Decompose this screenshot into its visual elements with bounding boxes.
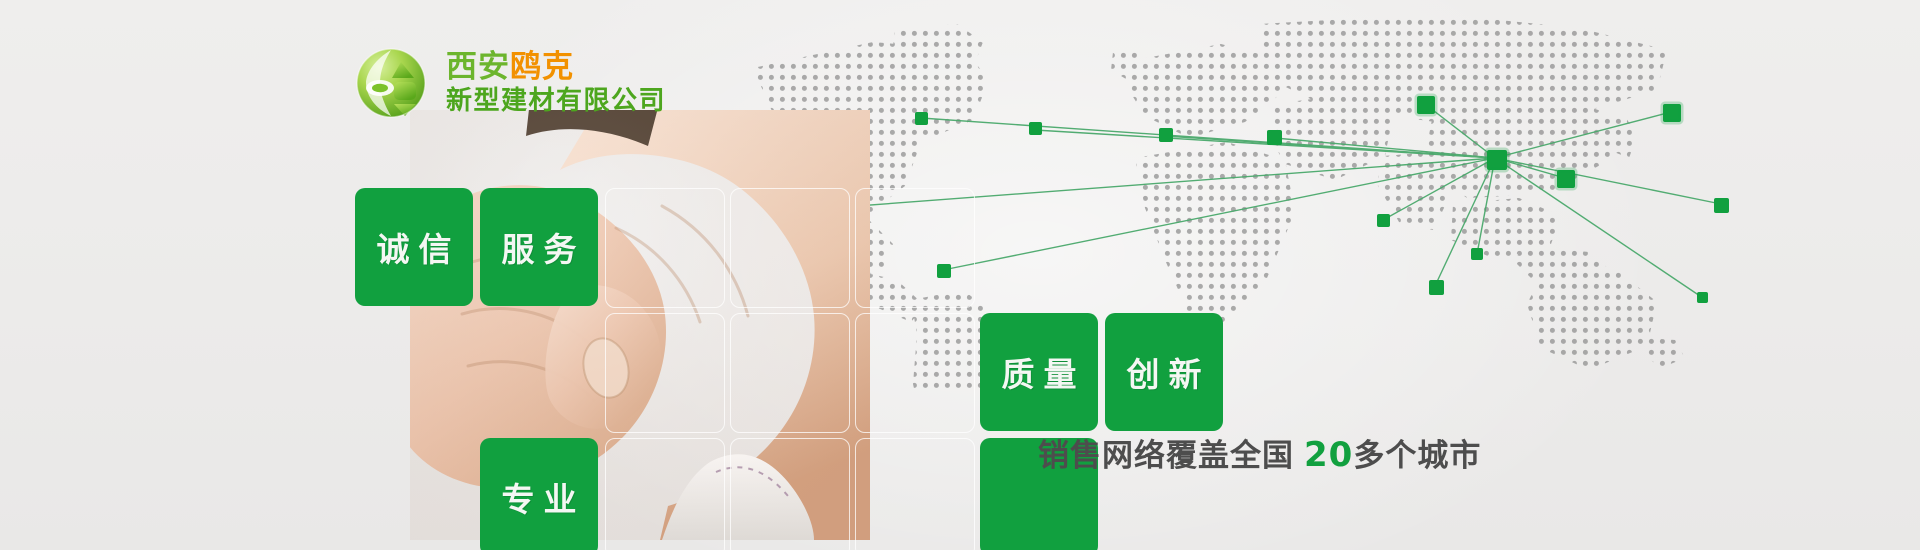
tile-zhiliang[interactable]: 质量 [980, 313, 1098, 431]
logo-city: 西安 [446, 49, 510, 85]
tile-r2c5[interactable] [855, 313, 975, 433]
tile-r3c3[interactable] [605, 438, 725, 550]
tile-r3c4[interactable] [730, 438, 850, 550]
tile-chengxin[interactable]: 诚信 [355, 188, 473, 306]
banner-root: 诚信 服务 质量 创新 专业 [0, 0, 1920, 550]
logo-company-line1: 西安鸥克 [446, 50, 666, 85]
tile-r1c3[interactable] [605, 188, 725, 308]
caption-tail: 多个城市 [1353, 438, 1481, 474]
tile-fuwu[interactable]: 服务 [480, 188, 598, 306]
logo-text: 西安鸥克 新型建材有限公司 [446, 50, 666, 117]
tile-r1c5[interactable] [855, 188, 975, 308]
logo-block[interactable]: 西安鸥克 新型建材有限公司 [352, 44, 666, 122]
tile-r1c4[interactable] [730, 188, 850, 308]
tile-zhuanye[interactable]: 专业 [480, 438, 598, 550]
caption-highlight: 20 [1304, 435, 1353, 475]
tile-zhuanye-label: 专业 [493, 473, 586, 521]
logo-company-line2: 新型建材有限公司 [446, 87, 666, 116]
tile-r2c3[interactable] [605, 313, 725, 433]
tile-chengxin-label: 诚信 [368, 223, 461, 271]
tile-chuangxin-label: 创新 [1118, 348, 1211, 396]
tile-fuwu-label: 服务 [493, 223, 586, 271]
tile-r2c4[interactable] [730, 313, 850, 433]
caption-lead: 销售网络覆盖全国 [1038, 438, 1294, 474]
tile-chuangxin[interactable]: 创新 [1105, 313, 1223, 431]
logo-brand: 鸥克 [510, 49, 574, 85]
sales-network-caption: 销售网络覆盖全国20多个城市 [1038, 438, 1481, 472]
tile-r3c5[interactable] [855, 438, 975, 550]
tile-zhiliang-label: 质量 [993, 348, 1086, 396]
globe-leaf-logo-icon [352, 44, 430, 122]
